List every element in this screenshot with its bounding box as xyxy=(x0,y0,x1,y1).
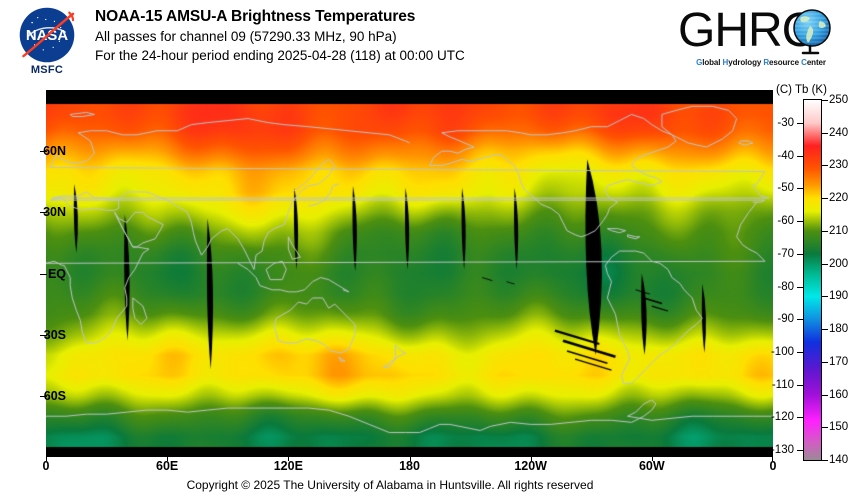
colorbar-label-kelvin: 250 xyxy=(829,94,848,106)
x-axis-label: 60E xyxy=(156,459,178,473)
colorbar-tick-kelvin xyxy=(822,362,828,363)
colorbar-label-celsius: -130 xyxy=(771,444,794,456)
title-block: NOAA-15 AMSU-A Brightness Temperatures A… xyxy=(95,8,675,66)
colorbar-label-kelvin: 140 xyxy=(829,454,848,466)
colorbar-header: (C) Tb (K) xyxy=(776,84,827,96)
y-axis-label: 60N xyxy=(43,144,66,158)
colorbar-tick-kelvin xyxy=(822,296,828,297)
colorbar-label-celsius: -80 xyxy=(777,281,794,293)
colorbar-label-celsius: -30 xyxy=(777,117,794,129)
channel-subtitle: All passes for channel 09 (57290.33 MHz,… xyxy=(95,28,675,45)
brightness-temperature-map xyxy=(46,90,773,457)
colorbar-label-celsius: -50 xyxy=(777,182,794,194)
colorbar-label-celsius: -70 xyxy=(777,248,794,260)
x-axis-label: 60W xyxy=(639,459,665,473)
colorbar-tick-celsius xyxy=(797,156,803,157)
colorbar-tick-celsius xyxy=(797,417,803,418)
ghrc-logo: GHRC Global Hydrology Resource Center xyxy=(676,4,846,78)
colorbar-label-kelvin: 160 xyxy=(829,389,848,401)
x-axis-label: 0 xyxy=(770,459,777,473)
map-plot-area xyxy=(46,90,773,457)
colorbar-label-kelvin: 190 xyxy=(829,290,848,302)
ghrc-tagline: Global Hydrology Resource Center xyxy=(676,58,846,67)
period-subtitle: For the 24-hour period ending 2025-04-28… xyxy=(95,47,675,64)
colorbar-label-celsius: -120 xyxy=(771,411,794,423)
y-axis-label: 30S xyxy=(44,328,66,342)
colorbar-tick-kelvin xyxy=(822,133,828,134)
colorbar-label-kelvin: 210 xyxy=(829,225,848,237)
colorbar-label-kelvin: 220 xyxy=(829,192,848,204)
colorbar-label-celsius: -110 xyxy=(772,379,794,391)
colorbar-tick-celsius xyxy=(797,123,803,124)
colorbar-tick-celsius xyxy=(797,450,803,451)
colorbar-tick-celsius xyxy=(797,221,803,222)
colorbar-tick-celsius xyxy=(797,385,803,386)
colorbar-tick-kelvin xyxy=(822,395,828,396)
colorbar-tick-celsius xyxy=(797,254,803,255)
colorbar-label-celsius: -60 xyxy=(777,215,794,227)
y-axis-tick xyxy=(40,274,47,275)
page-title: NOAA-15 AMSU-A Brightness Temperatures xyxy=(95,8,675,25)
colorbar-tick-kelvin xyxy=(822,231,828,232)
colorbar-label-celsius: -100 xyxy=(771,346,794,358)
colorbar-tick-celsius xyxy=(797,287,803,288)
colorbar-label-kelvin: 150 xyxy=(829,421,848,433)
colorbar xyxy=(803,99,822,461)
nasa-meatball-icon: NASA xyxy=(16,4,78,66)
colorbar-tick-kelvin xyxy=(822,460,828,461)
colorbar-label-celsius: -40 xyxy=(777,150,794,162)
colorbar-label-celsius: -90 xyxy=(777,313,794,325)
colorbar-label-kelvin: 200 xyxy=(829,258,848,270)
colorbar-tick-celsius xyxy=(797,352,803,353)
ghrc-wordmark-icon: GHRC xyxy=(676,4,846,58)
x-axis-label: 180 xyxy=(399,459,420,473)
colorbar-tick-kelvin xyxy=(822,100,828,101)
colorbar-tick-kelvin xyxy=(822,198,828,199)
colorbar-tick-celsius xyxy=(797,188,803,189)
colorbar-tick-kelvin xyxy=(822,165,828,166)
y-axis-label: 30N xyxy=(43,205,66,219)
nasa-logo: NASA MSFC xyxy=(8,4,86,82)
y-axis-label: 60S xyxy=(44,389,66,403)
x-axis-label: 120E xyxy=(274,459,303,473)
nasa-center-label: MSFC xyxy=(8,64,86,76)
colorbar-tick-kelvin xyxy=(822,264,828,265)
copyright-notice: Copyright © 2025 The University of Alaba… xyxy=(0,478,780,492)
colorbar-label-kelvin: 240 xyxy=(829,127,848,139)
y-axis-label: EQ xyxy=(48,267,66,281)
colorbar-tick-kelvin xyxy=(822,329,828,330)
colorbar-label-kelvin: 230 xyxy=(829,159,848,171)
x-axis-label: 120W xyxy=(514,459,547,473)
colorbar-tick-celsius xyxy=(797,319,803,320)
visualization-page: NASA MSFC NOAA-15 AMSU-A Brightness Temp… xyxy=(0,0,854,502)
colorbar-gradient xyxy=(804,100,821,460)
colorbar-label-kelvin: 170 xyxy=(829,356,848,368)
colorbar-label-kelvin: 180 xyxy=(829,323,848,335)
x-axis-label: 0 xyxy=(43,459,50,473)
colorbar-tick-kelvin xyxy=(822,427,828,428)
